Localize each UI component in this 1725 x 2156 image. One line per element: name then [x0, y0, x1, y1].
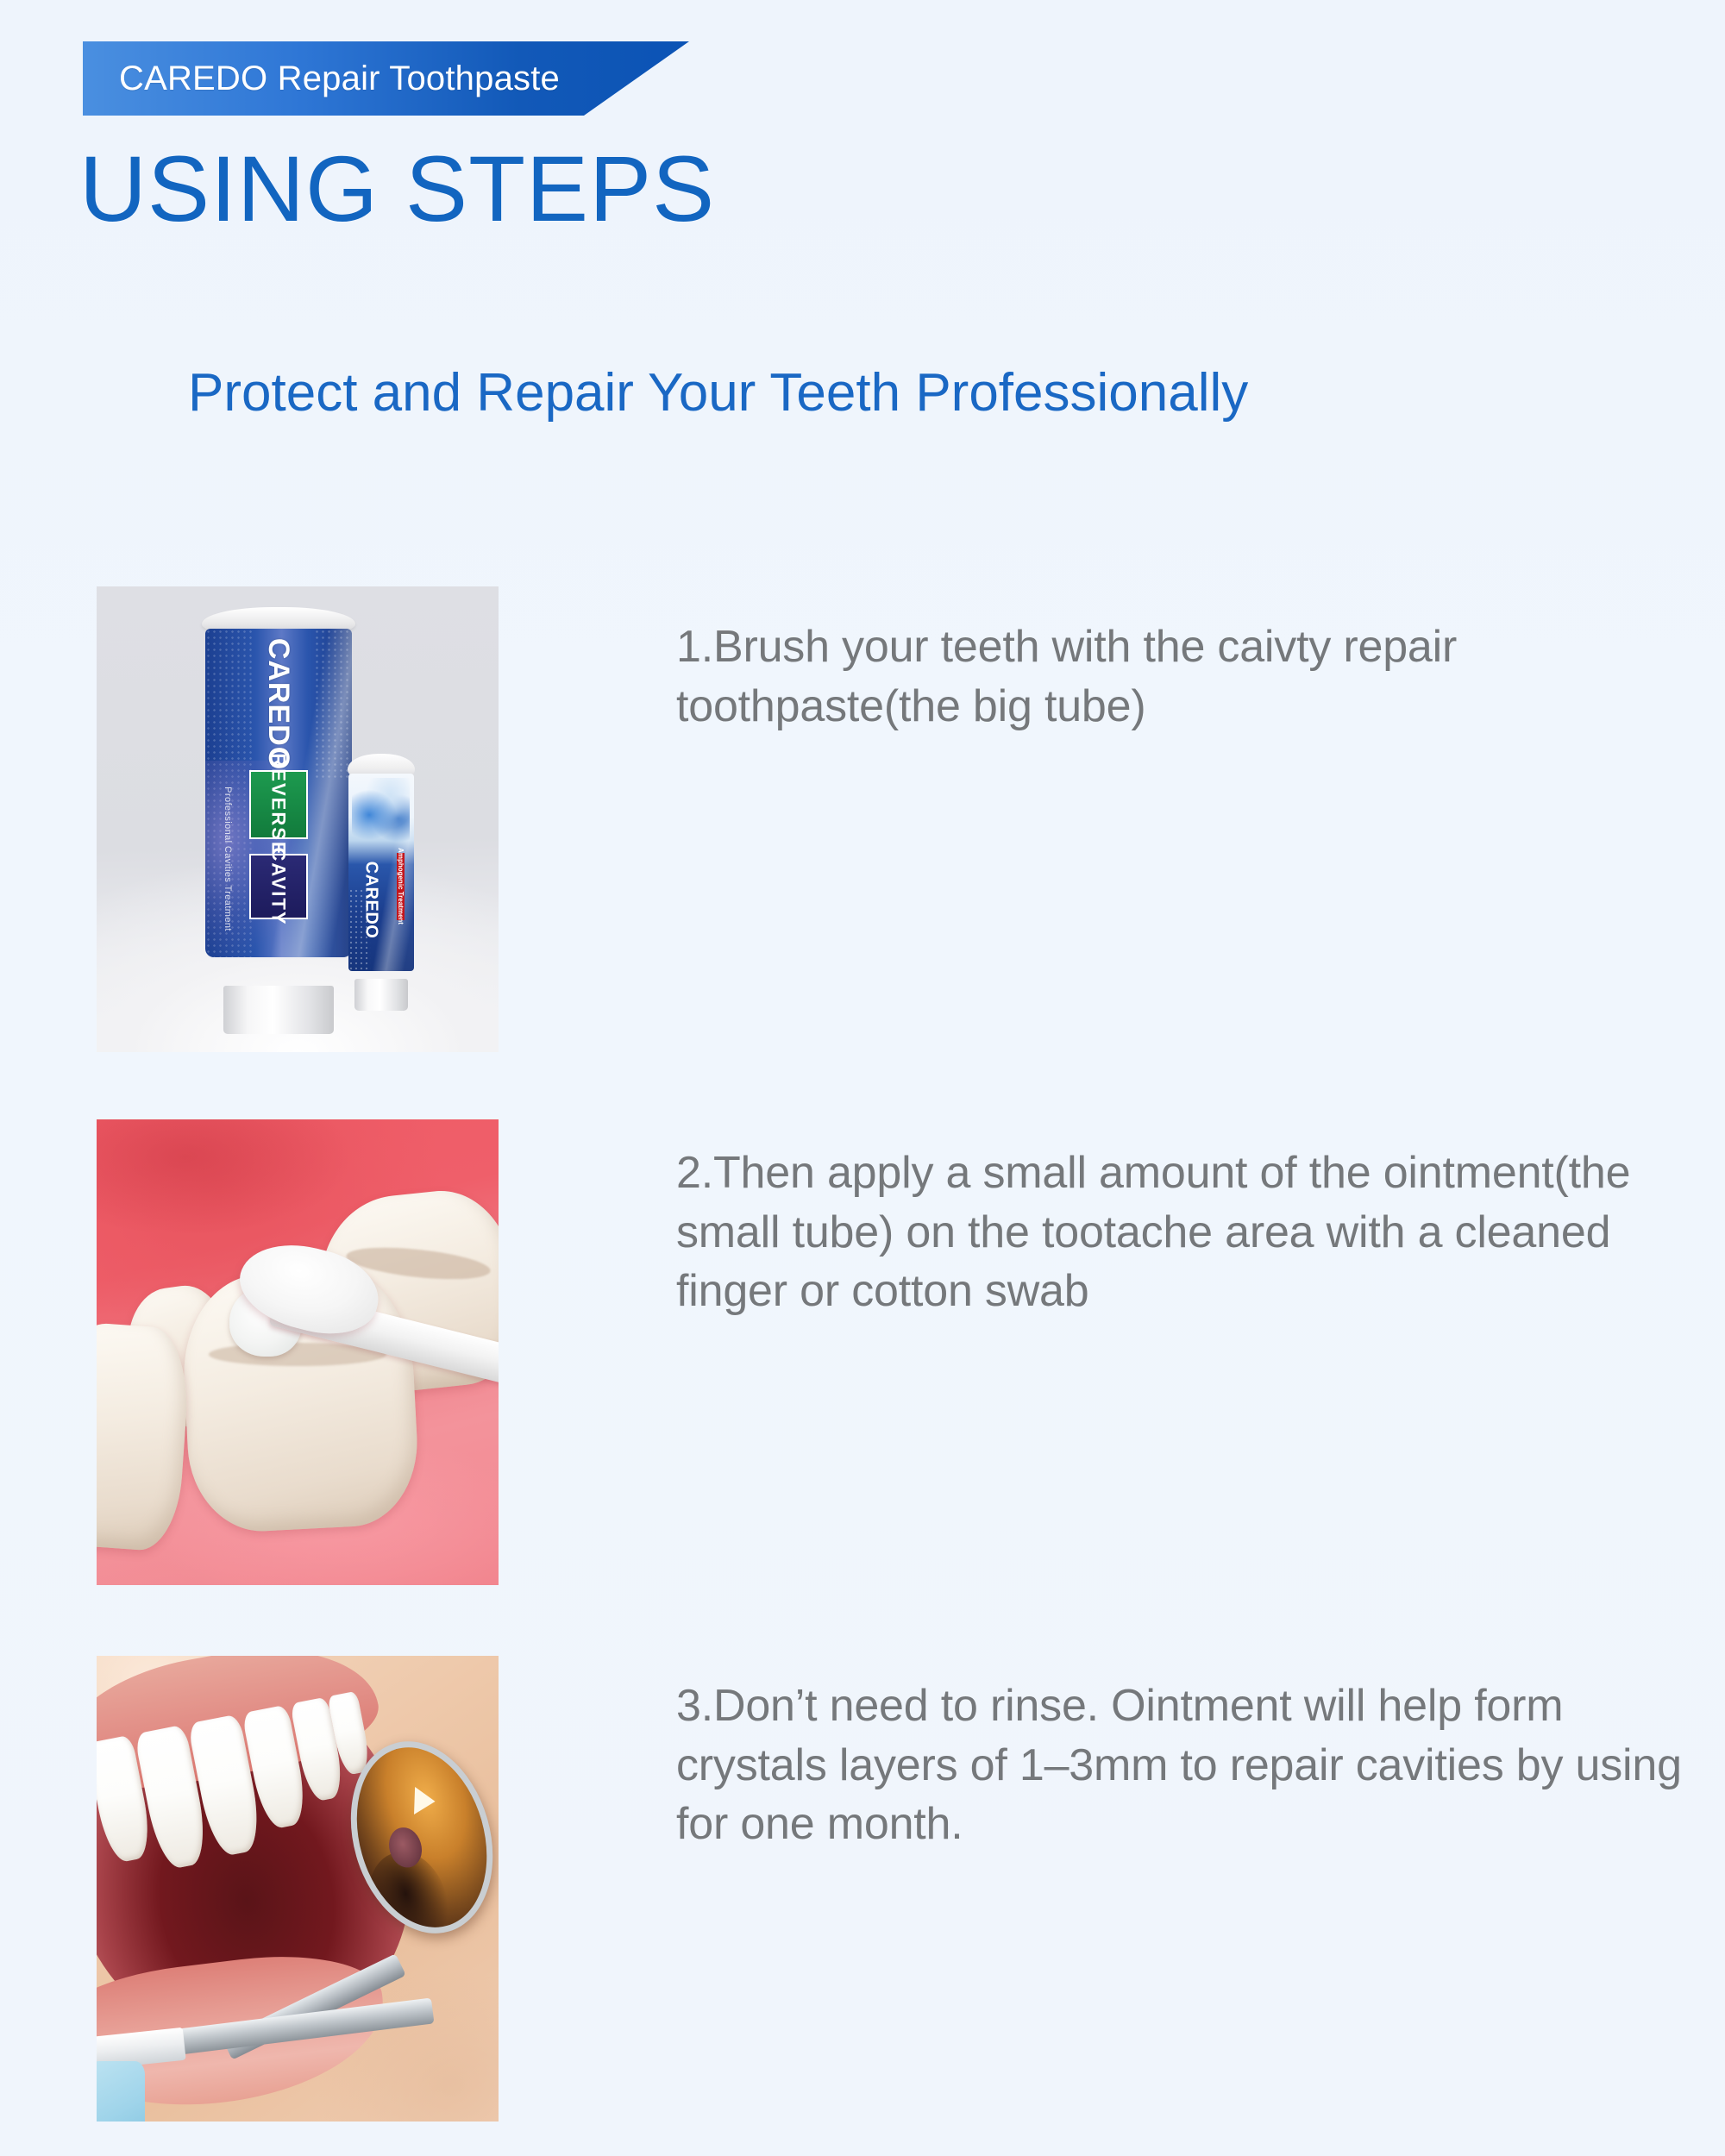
big-tube-shoulder: [202, 607, 355, 631]
big-tube-body: CAREDO Professional Cavities Treatment R…: [205, 629, 352, 957]
toothpaste-tubes-illustration: CAREDO Professional Cavities Treatment R…: [97, 586, 499, 1052]
big-tube-side-text: Professional Cavities Treatment: [222, 787, 232, 931]
big-tube-side-label: Professional Cavities Treatment: [208, 780, 246, 938]
brand-ribbon: CAREDO Repair Toothpaste: [83, 41, 689, 116]
brand-ribbon-label: CAREDO Repair Toothpaste: [119, 61, 560, 96]
step-1-image: CAREDO Professional Cavities Treatment R…: [97, 586, 499, 1052]
big-tube-brand-text: CAREDO: [261, 638, 295, 770]
big-toothpaste-tube: CAREDO Professional Cavities Treatment R…: [221, 607, 336, 1007]
step-item-1: CAREDO Professional Cavities Treatment R…: [97, 586, 1725, 1052]
mirror-arrow-marker: [414, 1787, 436, 1815]
brand-ribbon-shape: CAREDO Repair Toothpaste: [83, 41, 689, 116]
step-item-3: 3.Don’t need to rinse. Ointment will hel…: [97, 1656, 1725, 2122]
using-steps-page: CAREDO Repair Toothpaste USING STEPS Pro…: [0, 0, 1725, 2156]
step-1-text: 1.Brush your teeth with the caivty repai…: [676, 586, 1725, 736]
step-3-image: [97, 1656, 499, 2122]
step-2-image: [97, 1119, 499, 1585]
small-tube-brand-label: CAREDO: [351, 865, 390, 936]
dental-mirror-photo: [97, 1656, 499, 2122]
big-tube-purple-band: CAVITY: [249, 854, 308, 919]
step-item-2: 2.Then apply a small amount of the ointm…: [97, 1119, 1725, 1585]
page-subtitle: Protect and Repair Your Teeth Profession…: [188, 362, 1248, 423]
big-tube-purple-text: CAVITY: [267, 848, 290, 926]
big-tube-green-text: REVERSE: [267, 753, 290, 856]
small-tube-shoulder: [348, 754, 415, 776]
small-tube-red-text: Amphogenic Treatment: [397, 848, 405, 924]
small-tube-red-band: Amphogenic Treatment: [397, 853, 405, 920]
small-tube-splash-graphic: [352, 778, 410, 845]
small-tube-brand-text: CAREDO: [361, 862, 380, 939]
small-ointment-tube: Amphogenic Treatment CAREDO: [352, 754, 411, 1000]
small-tube-body: Amphogenic Treatment CAREDO: [348, 774, 414, 971]
big-tube-green-band: REVERSE: [249, 770, 308, 839]
page-title: USING STEPS: [79, 138, 715, 241]
step-2-text: 2.Then apply a small amount of the ointm…: [676, 1119, 1725, 1321]
steps-list: CAREDO Professional Cavities Treatment R…: [0, 586, 1725, 2122]
big-tube-brand-label: CAREDO: [216, 649, 340, 760]
gloved-hand: [97, 2061, 145, 2122]
small-tube-cap: [354, 979, 408, 1011]
step-3-text: 3.Don’t need to rinse. Ointment will hel…: [676, 1656, 1725, 1854]
cotton-swab-illustration: [97, 1119, 499, 1585]
big-tube-cap: [223, 986, 333, 1034]
